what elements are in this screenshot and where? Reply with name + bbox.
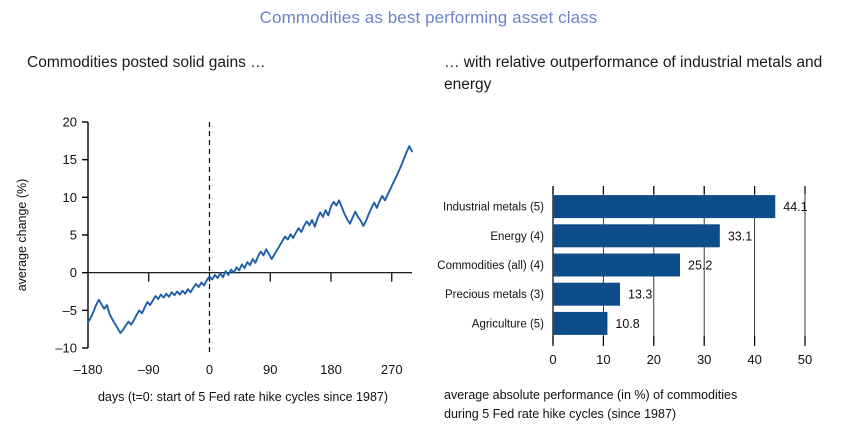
y-tick-label: –10 bbox=[55, 341, 77, 356]
y-tick-label: 0 bbox=[70, 265, 77, 280]
bar-value-label: 44.1 bbox=[783, 200, 807, 214]
x-tick-label: –90 bbox=[138, 362, 160, 377]
left-panel-heading: Commodities posted solid gains … bbox=[27, 52, 427, 74]
x-tick-label: –180 bbox=[74, 362, 103, 377]
bar bbox=[553, 224, 720, 247]
bar-category-label: Commodities (all) (4) bbox=[437, 260, 544, 272]
x-tick-label: 90 bbox=[263, 362, 277, 377]
bar-value-label: 33.1 bbox=[728, 229, 752, 243]
x-tick-label: 270 bbox=[381, 362, 403, 377]
line-series bbox=[88, 146, 412, 333]
x-tick-label: 50 bbox=[798, 352, 812, 367]
bar-chart-caption-line-2: during 5 Fed rate hike cycles (since 198… bbox=[444, 405, 844, 424]
bar-chart: 0102030405044.1Industrial metals (5)33.1… bbox=[430, 170, 857, 385]
bar-category-label: Precious metals (3) bbox=[445, 289, 544, 301]
y-tick-label: 15 bbox=[63, 152, 77, 167]
y-axis-title: average change (%) bbox=[15, 179, 29, 292]
bar-value-label: 13.3 bbox=[628, 288, 652, 302]
x-tick-label: 10 bbox=[596, 352, 610, 367]
x-tick-label: 30 bbox=[697, 352, 711, 367]
bar bbox=[553, 283, 620, 306]
x-tick-label: 0 bbox=[549, 352, 556, 367]
bar-value-label: 10.8 bbox=[615, 317, 639, 331]
slide-canvas: Commodities as best performing asset cla… bbox=[0, 0, 857, 438]
bar-category-label: Agriculture (5) bbox=[472, 318, 544, 330]
bar bbox=[553, 195, 775, 218]
bar-value-label: 25.2 bbox=[688, 259, 712, 273]
y-tick-label: 10 bbox=[63, 190, 77, 205]
bar-chart-caption: average absolute performance (in %) of c… bbox=[444, 386, 844, 424]
bar-chart-caption-line-1: average absolute performance (in %) of c… bbox=[444, 386, 844, 405]
y-tick-label: 20 bbox=[63, 115, 77, 130]
x-tick-label: 20 bbox=[647, 352, 661, 367]
bar bbox=[553, 312, 607, 335]
x-tick-label: 0 bbox=[206, 362, 213, 377]
line-chart-caption: days (t=0: start of 5 Fed rate hike cycl… bbox=[63, 388, 423, 407]
y-tick-label: 5 bbox=[70, 228, 77, 243]
page-title: Commodities as best performing asset cla… bbox=[0, 8, 857, 28]
line-chart: –10–505101520–180–90090180270average cha… bbox=[0, 96, 430, 386]
y-tick-label: –5 bbox=[63, 303, 77, 318]
bar-category-label: Energy (4) bbox=[490, 231, 544, 243]
right-panel-heading: … with relative outperformance of indust… bbox=[444, 52, 844, 97]
x-tick-label: 180 bbox=[320, 362, 342, 377]
x-tick-label: 40 bbox=[747, 352, 761, 367]
bar bbox=[553, 254, 680, 277]
bar-category-label: Industrial metals (5) bbox=[443, 202, 544, 214]
